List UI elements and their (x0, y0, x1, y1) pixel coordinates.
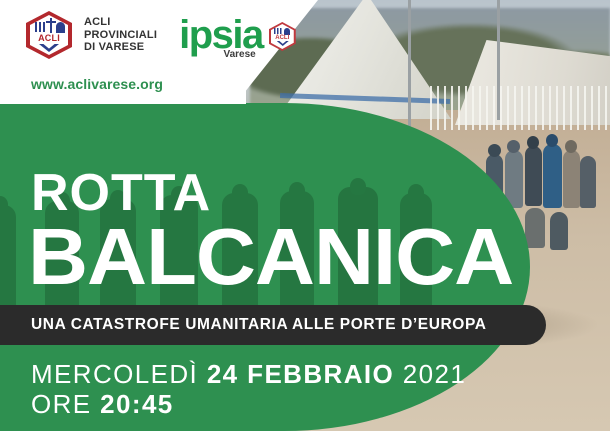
event-time-label: ORE (31, 389, 92, 419)
ipsia-logo-subtitle: Varese (223, 49, 255, 60)
event-datetime: MERCOLEDÌ 24 FEBBRAIO 2021 ORE 20:45 (31, 359, 466, 419)
event-time: 20:45 (100, 389, 174, 419)
acli-logo-icon: ACLI (26, 11, 72, 59)
subtitle-band: UNA CATASTROFE UMANITARIA ALLE PORTE D’E… (0, 305, 546, 345)
title-line-2: BALCANICA (28, 216, 513, 298)
acli-logo-text: ACLI PROVINCIALI DI VARESE (84, 16, 157, 54)
event-year: 2021 (403, 359, 466, 389)
acli-badge-icon: ACLI (269, 22, 296, 51)
poster: ACLI ACLI PROVINCIALI DI VARESE ipsia Va… (0, 0, 610, 431)
ipsia-logo: ipsia Varese ACLI (179, 16, 296, 54)
event-date: 24 FEBBRAIO (207, 359, 394, 389)
acli-logo-mark-word: ACLI (26, 33, 72, 43)
photo-pole (497, 0, 500, 120)
subtitle-text: UNA CATASTROFE UMANITARIA ALLE PORTE D’E… (31, 317, 487, 333)
acli-badge-word: ACLI (269, 35, 296, 42)
event-time-line: ORE 20:45 (31, 389, 466, 419)
logo-row: ACLI ACLI PROVINCIALI DI VARESE ipsia Va… (26, 11, 296, 59)
event-day-label: MERCOLEDÌ (31, 359, 198, 389)
event-date-line: MERCOLEDÌ 24 FEBBRAIO 2021 (31, 359, 466, 389)
website-url[interactable]: www.aclivarese.org (31, 76, 163, 92)
